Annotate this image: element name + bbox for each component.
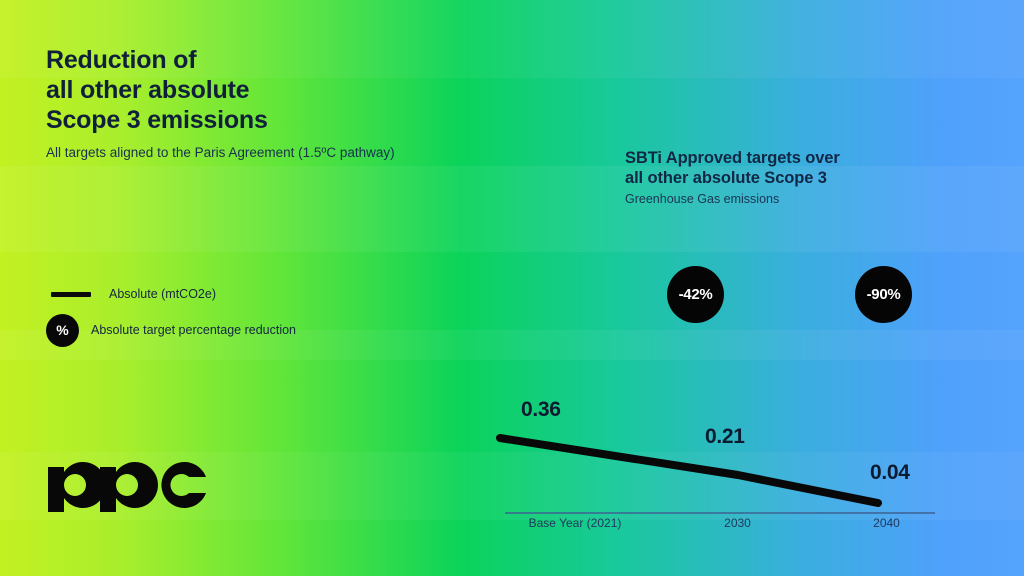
title-line-3: Scope 3 emissions xyxy=(46,105,516,135)
chart-legend: Absolute (mtCO2e) % Absolute target perc… xyxy=(46,281,406,343)
status-badge-2040: -90% xyxy=(855,266,912,323)
legend-label-absolute: Absolute (mtCO2e) xyxy=(109,287,216,301)
x-tick-base-year: Base Year (2021) xyxy=(505,516,645,530)
sbti-subtitle: Greenhouse Gas emissions xyxy=(625,192,915,207)
sbti-line-1: SBTi Approved targets over xyxy=(625,148,915,168)
percent-icon: % xyxy=(46,314,79,347)
sbti-line-2: all other absolute Scope 3 xyxy=(625,168,915,188)
data-label-2030: 0.21 xyxy=(705,425,745,449)
slide-canvas: Reduction of all other absolute Scope 3 … xyxy=(0,0,1024,576)
page-title: Reduction of all other absolute Scope 3 … xyxy=(46,45,516,161)
legend-item-percent: % Absolute target percentage reduction xyxy=(46,317,406,343)
sbti-heading: SBTi Approved targets over all other abs… xyxy=(625,148,915,207)
x-tick-2040: 2040 xyxy=(820,516,953,530)
title-line-1: Reduction of xyxy=(46,45,516,75)
ppc-logo-icon xyxy=(48,455,208,525)
line-swatch-icon xyxy=(51,292,91,297)
legend-item-absolute: Absolute (mtCO2e) xyxy=(46,281,406,307)
x-tick-2030: 2030 xyxy=(670,516,805,530)
x-axis-line xyxy=(505,512,935,514)
status-badge-2030: -42% xyxy=(667,266,724,323)
title-subtitle: All targets aligned to the Paris Agreeme… xyxy=(46,144,516,161)
data-label-2040: 0.04 xyxy=(870,461,910,485)
title-line-2: all other absolute xyxy=(46,75,516,105)
data-label-base-year: 0.36 xyxy=(521,398,561,422)
ppc-logo xyxy=(48,455,208,525)
legend-label-percent: Absolute target percentage reduction xyxy=(91,323,296,337)
absolute-emissions-line xyxy=(500,438,878,503)
